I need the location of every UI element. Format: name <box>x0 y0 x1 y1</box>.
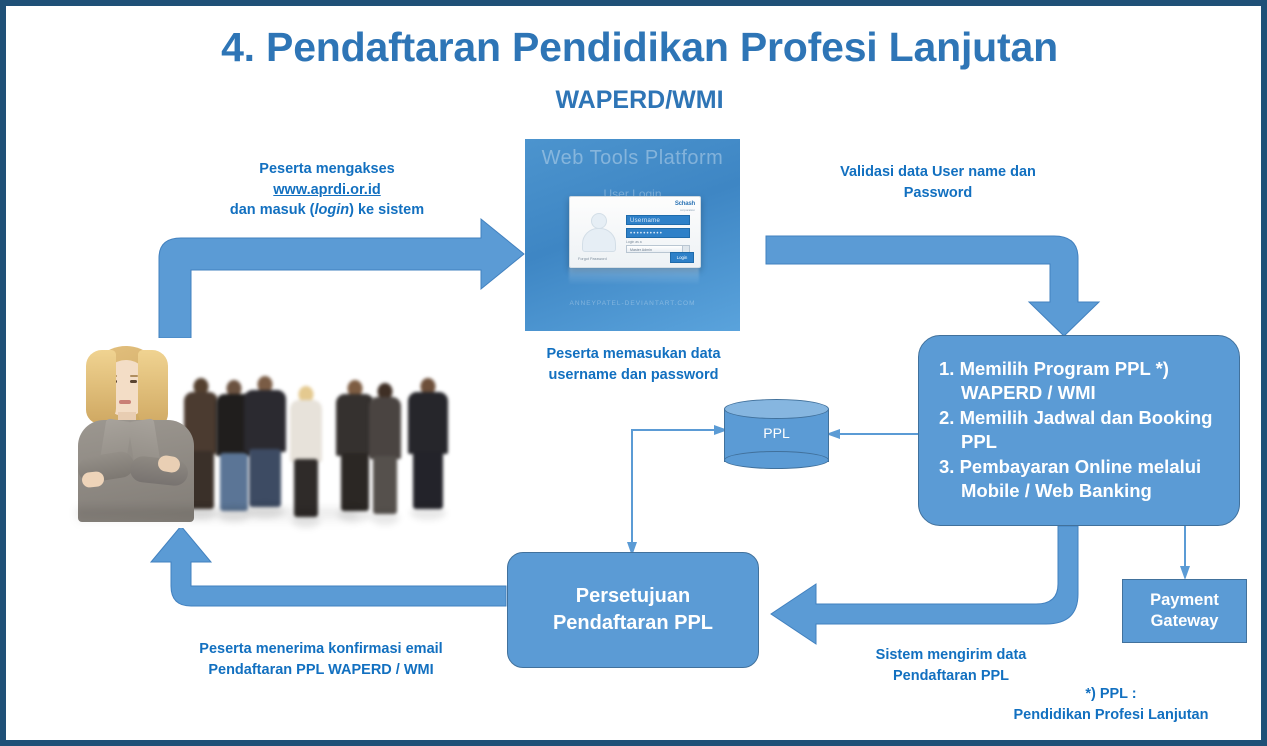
background-person <box>244 376 286 524</box>
note-footnote-line2: Pendidikan Profesi Lanjutan <box>966 705 1256 726</box>
note-validation-line2: Password <box>818 183 1058 204</box>
note-platform-caption-line1: Peserta memasukan data <box>526 344 741 365</box>
note-validation: Validasi data User name dan Password <box>818 162 1058 203</box>
persetujuan-line2: Pendaftaran PPL <box>553 610 713 637</box>
diagram-canvas: 4. Pendaftaran Pendidikan Profesi Lanjut… <box>0 0 1267 746</box>
note-validation-line1: Validasi data User name dan <box>818 162 1058 183</box>
note-footnote: *) PPL : Pendidikan Profesi Lanjutan <box>966 684 1256 725</box>
note-send-data: Sistem mengirim data Pendaftaran PPL <box>841 645 1061 686</box>
user-avatar-icon <box>580 213 616 253</box>
payment-gateway-line1: Payment <box>1150 590 1219 611</box>
background-person <box>408 378 448 524</box>
note-confirmation-line2: Pendaftaran PPL WAPERD / WMI <box>171 660 471 681</box>
participants-photo <box>66 338 366 528</box>
note-send-data-line1: Sistem mengirim data <box>841 645 1061 666</box>
arrow-to-payment-gateway-head <box>1180 566 1190 580</box>
steps-box: 1. Memilih Program PPL *) WAPERD / WMI 2… <box>918 335 1240 526</box>
login-button[interactable]: Login <box>670 252 694 263</box>
note-platform-caption-line2: username dan password <box>526 365 741 386</box>
forgot-password-link[interactable]: Forgot Password <box>578 257 607 261</box>
step-item: 1. Memilih Program PPL *) WAPERD / WMI <box>939 357 1229 405</box>
note-confirmation: Peserta menerima konfirmasi email Pendaf… <box>171 639 471 680</box>
ppl-database-label: PPL <box>724 425 829 441</box>
arrow-send-data-flow <box>771 526 1078 644</box>
background-person <box>369 383 401 523</box>
platform-screenshot: Web Tools Platform User Login Schash cor… <box>525 139 740 331</box>
login-card-reflection <box>569 267 699 285</box>
note-platform-caption: Peserta memasukan data username dan pass… <box>526 344 741 385</box>
arrow-login-flow <box>159 219 524 338</box>
payment-gateway-line2: Gateway <box>1150 611 1219 632</box>
login-brand-logo: Schash <box>675 201 695 207</box>
foreground-person <box>72 346 200 522</box>
login-as-label: Login as a <box>626 240 642 244</box>
password-input[interactable]: •••••••••• <box>626 228 690 238</box>
payment-gateway-box: Payment Gateway <box>1122 579 1247 643</box>
arrow-confirmation-flow <box>151 526 506 606</box>
steps-list: 1. Memilih Program PPL *) WAPERD / WMI 2… <box>919 357 1239 504</box>
login-card: Schash corporation Username •••••••••• L… <box>569 196 701 268</box>
note-access-line3: dan masuk (login) ke sistem <box>202 200 452 221</box>
persetujuan-box: Persetujuan Pendaftaran PPL <box>507 552 759 668</box>
step-item: 3. Pembayaran Online melalui Mobile / We… <box>939 455 1229 503</box>
note-access: Peserta mengakses www.aprdi.or.id dan ma… <box>202 159 452 221</box>
username-input[interactable]: Username <box>626 215 690 225</box>
page-subtitle: WAPERD/WMI <box>6 86 1267 115</box>
arrow-validation-flow <box>766 236 1099 336</box>
ppl-database-cylinder: PPL <box>724 399 829 469</box>
arrow-database-to-approval <box>632 430 718 546</box>
background-person <box>290 386 322 522</box>
note-access-line1: Peserta mengakses <box>202 159 452 180</box>
platform-watermark: ANNEYPATEL-DEVIANTART.COM <box>525 300 740 307</box>
note-footnote-line1: *) PPL : <box>966 684 1256 705</box>
persetujuan-line1: Persetujuan <box>553 583 713 610</box>
page-title: 4. Pendaftaran Pendidikan Profesi Lanjut… <box>6 24 1267 71</box>
note-access-url: www.aprdi.or.id <box>202 180 452 201</box>
platform-heading: Web Tools Platform <box>525 147 740 170</box>
login-brand-subtitle: corporation <box>680 208 695 212</box>
note-confirmation-line1: Peserta menerima konfirmasi email <box>171 639 471 660</box>
step-item: 2. Memilih Jadwal dan Booking PPL <box>939 406 1229 454</box>
